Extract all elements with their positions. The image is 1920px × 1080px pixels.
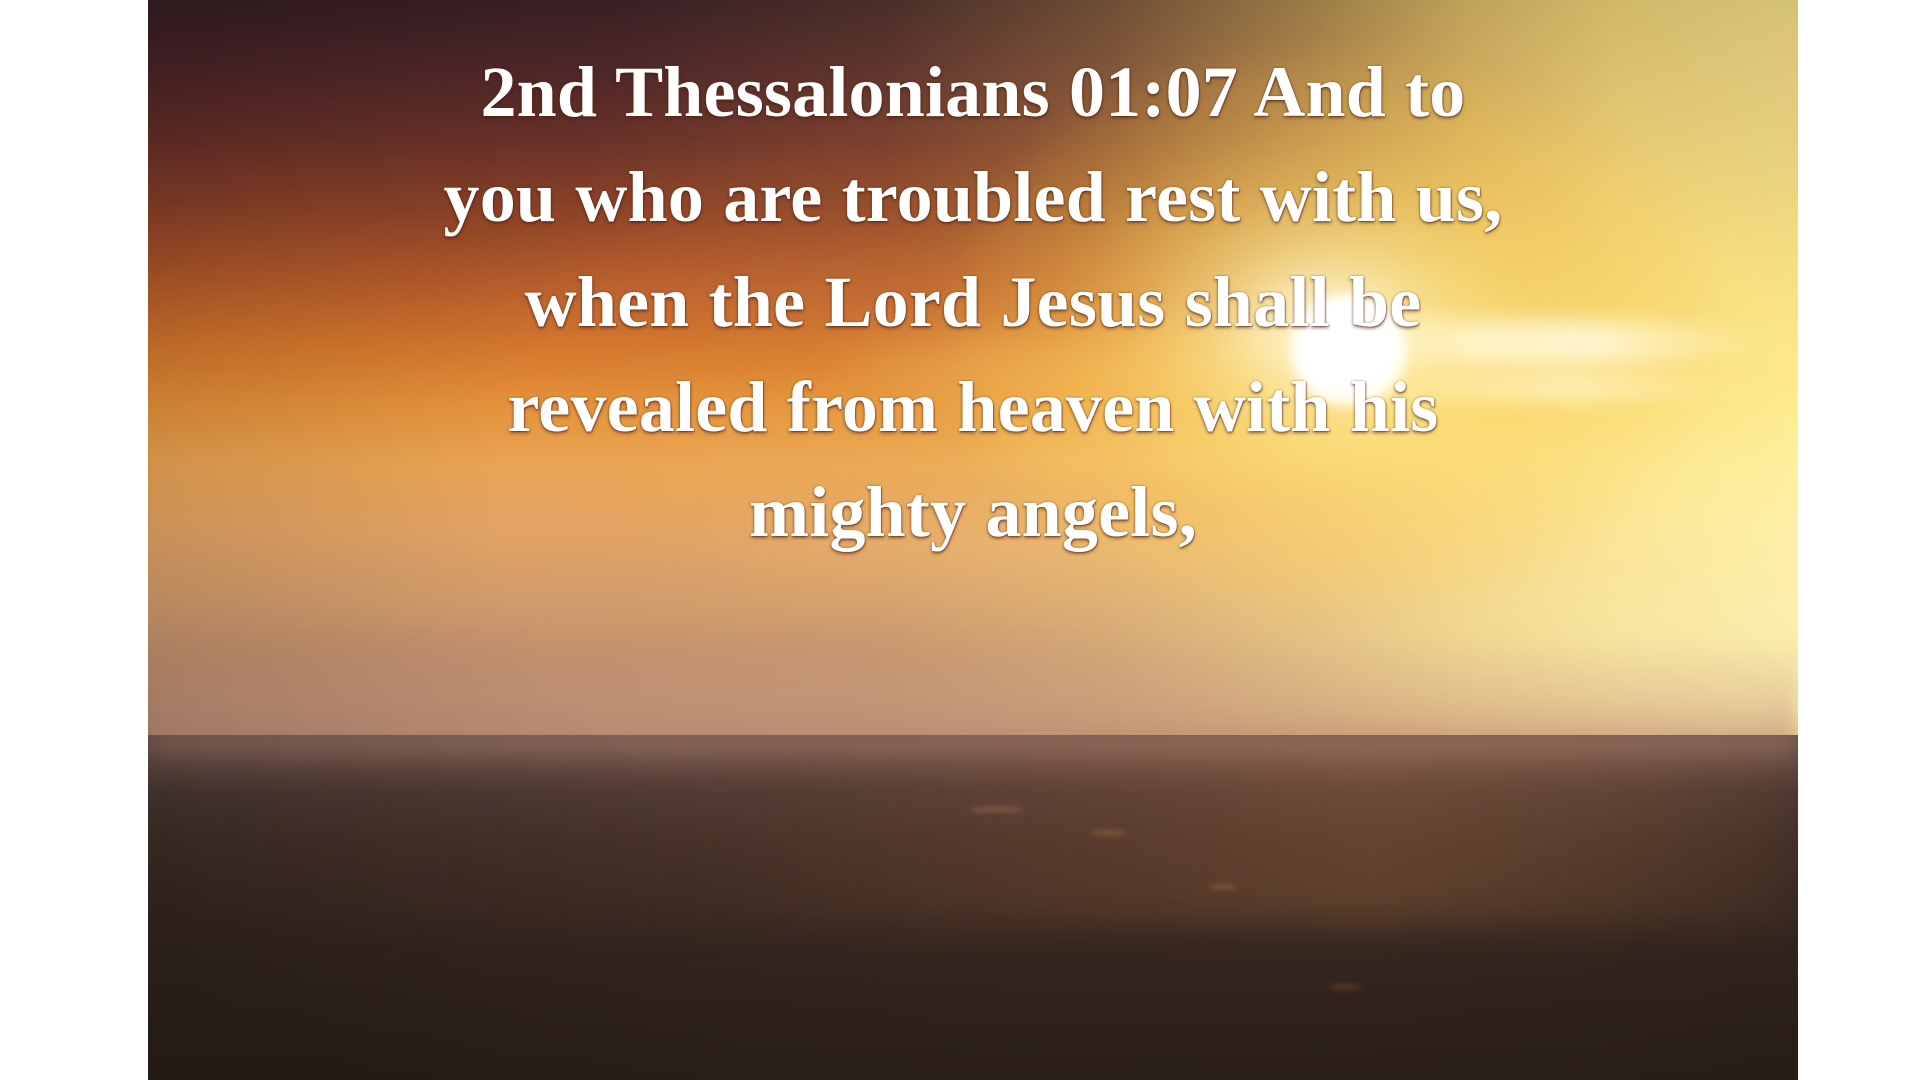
sun-disc-icon <box>1290 294 1408 406</box>
ocean-highlight <box>968 807 1024 812</box>
ocean-horizon-sheen <box>148 735 1798 781</box>
ocean-highlight <box>1088 831 1128 835</box>
slide-canvas: 2nd Thessalonians 01:07 And to you who a… <box>0 0 1920 1080</box>
ocean <box>148 735 1798 1080</box>
ocean-highlight <box>1208 885 1238 889</box>
sunset-photo: 2nd Thessalonians 01:07 And to you who a… <box>148 0 1798 1080</box>
ocean-highlight <box>1328 985 1362 989</box>
sun-cloud-streak <box>1188 320 1798 366</box>
